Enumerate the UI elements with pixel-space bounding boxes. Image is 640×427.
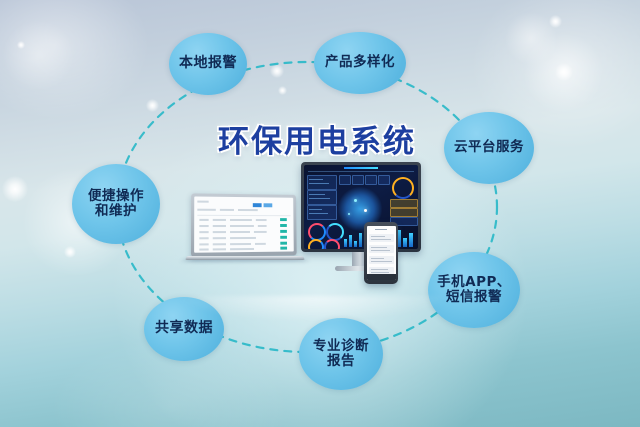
monitor-screen	[304, 165, 418, 249]
donut-chart-3	[308, 239, 324, 249]
phone-nav-bar	[367, 274, 396, 280]
node-easy-operation-line-1: 便捷操作	[88, 189, 144, 204]
node-cloud-platform[interactable]: 云平台服务	[444, 112, 534, 184]
node-easy-operation-line-2: 和维护	[88, 204, 144, 219]
node-mobile-sms-alarm-line-1: 手机APP、	[437, 275, 511, 290]
node-cloud-platform-line-1: 云平台服务	[454, 140, 524, 155]
node-local-alarm-line-1: 本地报警	[179, 56, 237, 72]
poster-canvas: 本地报警 产品多样化 云平台服务 手机APP、 短信报警 专业诊断 报告 共享数…	[0, 0, 640, 427]
node-diagnostic-report-line-2: 报告	[313, 354, 369, 369]
laptop	[186, 194, 304, 274]
phone-screen	[367, 226, 396, 280]
node-diagnostic-report-line-1: 专业诊断	[313, 339, 369, 354]
laptop-lid	[191, 193, 297, 257]
monitor-bezel	[301, 162, 421, 252]
node-product-diversity-line-1: 产品多样化	[325, 55, 395, 70]
node-easy-operation[interactable]: 便捷操作 和维护	[72, 164, 160, 244]
device-group	[186, 160, 436, 310]
laptop-screen	[194, 196, 294, 252]
node-diagnostic-report[interactable]: 专业诊断 报告	[299, 318, 383, 390]
node-product-diversity[interactable]: 产品多样化	[314, 32, 406, 94]
desktop-monitor	[301, 162, 421, 252]
page-title: 环保用电系统	[218, 116, 446, 161]
laptop-base	[185, 256, 305, 260]
smartphone	[364, 222, 398, 284]
node-shared-data-line-1: 共享数据	[155, 321, 213, 337]
donut-chart-4	[324, 239, 340, 249]
gauge-chart	[392, 177, 414, 199]
node-local-alarm[interactable]: 本地报警	[169, 33, 247, 95]
